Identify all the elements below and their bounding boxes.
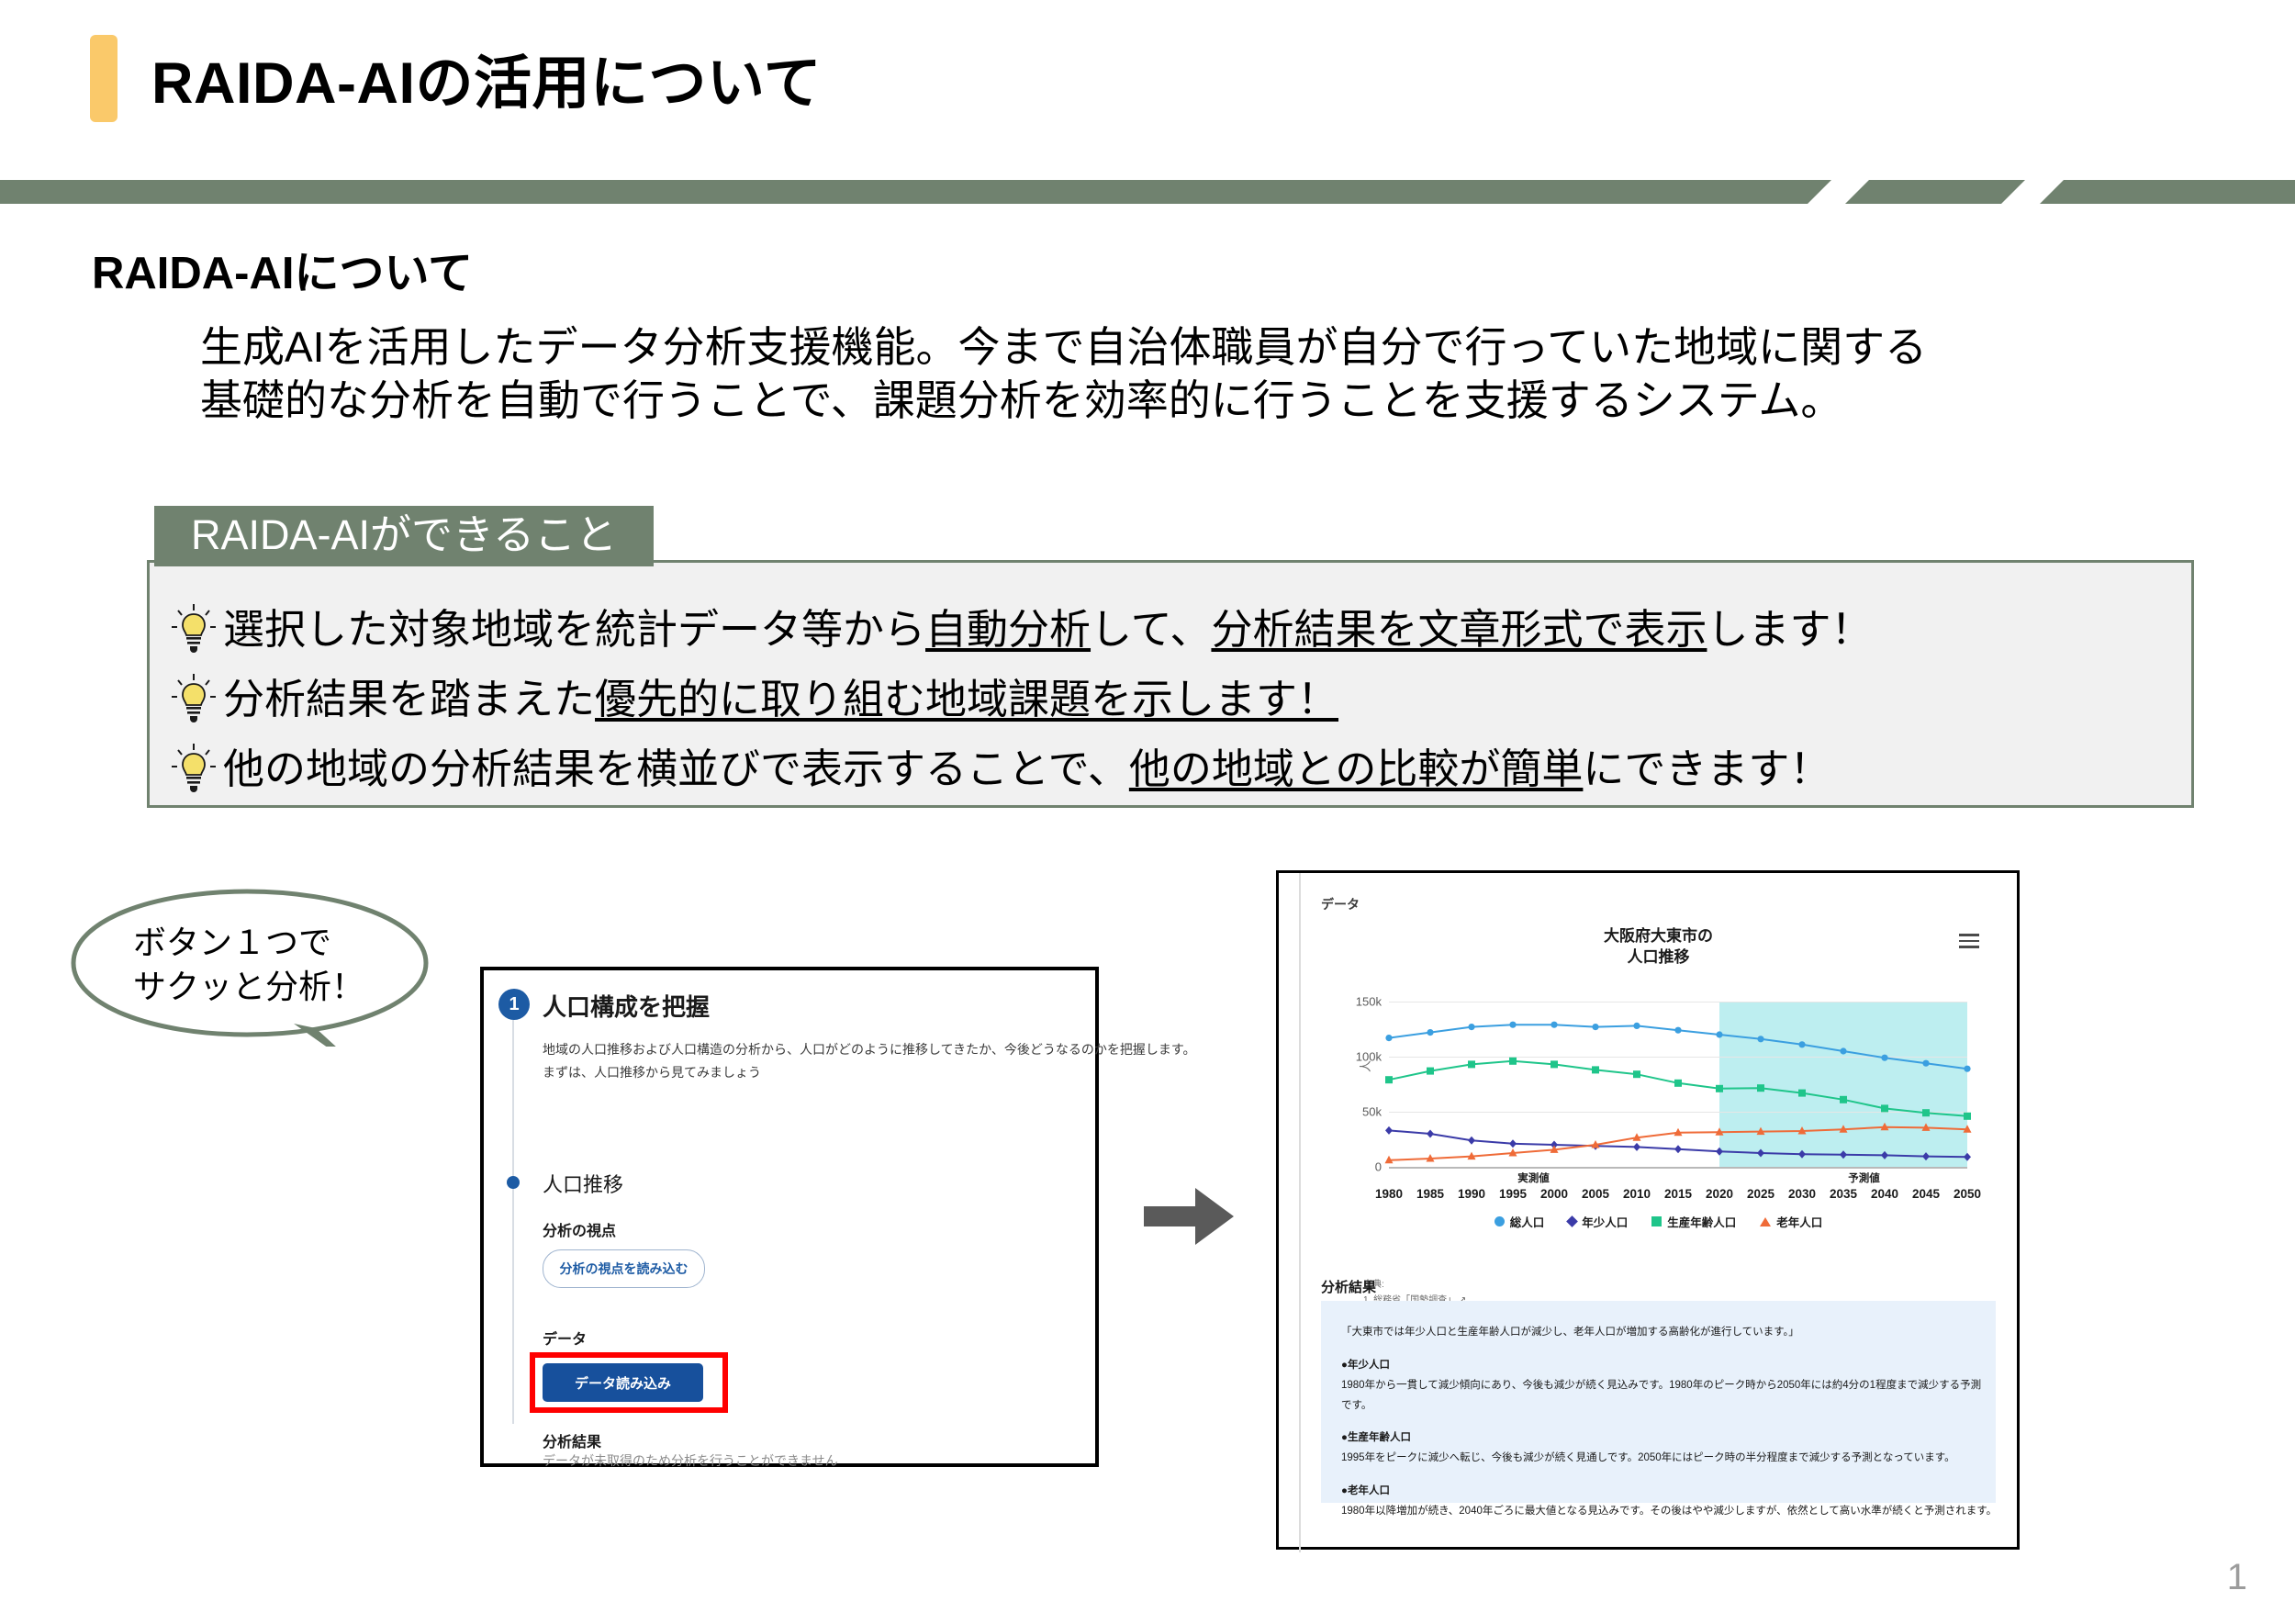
chart-title-line: 人口推移 — [1321, 947, 1996, 969]
hamburger-menu-icon[interactable] — [1959, 934, 1979, 948]
chart-marker — [1840, 1047, 1846, 1054]
report-data-label: データ — [1321, 895, 1360, 913]
chart-x-tick: 2015 — [1664, 1187, 1692, 1201]
chart-marker — [1674, 1145, 1682, 1153]
capability-item-label: 分析結果を踏まえた優先的に取り組む地域課題を示します！ — [223, 672, 1338, 727]
chart-marker — [1716, 1031, 1722, 1037]
chart-marker — [1592, 1066, 1599, 1073]
analysis-paragraph-heading: ●年少人口 — [1341, 1356, 1984, 1376]
step-description-line: まずは、人口推移から見てみましょう — [543, 1061, 1075, 1084]
chart-marker — [1509, 1022, 1516, 1028]
data-label: データ — [543, 1327, 587, 1349]
legend-label: 老年人口 — [1776, 1213, 1822, 1230]
chart-marker — [1922, 1060, 1929, 1067]
chart-marker — [1881, 1104, 1888, 1112]
chart-marker — [1881, 1151, 1888, 1159]
chart-title-line: 大阪府大東市の — [1321, 926, 1996, 947]
analysis-paragraph: 「大東市では年少人口と生産年齢人口が減少し、老年人口が増加する高齢化が進行してい… — [1341, 1323, 1984, 1343]
legend-label: 年少人口 — [1582, 1213, 1628, 1230]
chart-x-tick: 2050 — [1954, 1187, 1981, 1201]
chart-marker — [1385, 1035, 1392, 1041]
viewpoint-label: 分析の視点 — [543, 1218, 616, 1240]
step-description: 地域の人口推移および人口構造の分析から、人口がどのように推移してきたか、今後どう… — [543, 1038, 1075, 1083]
report-screenshot-panel: データ 大阪府大東市の人口推移 人 050k100k150k 総人口年少人口生産… — [1276, 870, 2020, 1550]
analysis-result-text: 「大東市では年少人口と生産年齢人口が減少し、老年人口が増加する高齢化が進行してい… — [1341, 1323, 1984, 1535]
chart-legend-entry: 総人口 — [1495, 1213, 1545, 1230]
chart-marker — [1757, 1036, 1763, 1042]
chart-x-tick: 2005 — [1582, 1187, 1609, 1201]
chart-marker — [1633, 1023, 1640, 1029]
slide-header: RAIDA-AIの活用について — [0, 0, 2295, 184]
capability-list: 選択した対象地域を統計データ等から自動分析して、分析結果を文章形式で表示します！… — [170, 595, 2180, 804]
capability-item-label: 選択した対象地域を統計データ等から自動分析して、分析結果を文章形式で表示します！ — [223, 602, 1872, 657]
divider-segment-2 — [1845, 180, 2025, 204]
analysis-paragraph-heading: ●老年人口 — [1341, 1482, 1984, 1502]
chart-marker — [1633, 1143, 1640, 1151]
chart-x-tick: 2045 — [1912, 1187, 1940, 1201]
step-rail — [512, 1020, 514, 1424]
chart-marker — [1798, 1090, 1806, 1097]
capability-item: 他の地域の分析結果を横並びで表示することで、他の地域との比較が簡単にできます！ — [170, 734, 2180, 804]
chart-marker — [1674, 1080, 1682, 1087]
population-chart: 大阪府大東市の人口推移 人 050k100k150k 総人口年少人口生産年齢人口… — [1321, 921, 1996, 1224]
capability-box-tab-label: RAIDA-AIができること — [154, 506, 654, 566]
analysis-paragraph-line: 1995年をピークに減少へ転じ、今後も減少が続く見通しです。2050年にはピーク… — [1341, 1449, 1984, 1469]
chart-marker — [1385, 1076, 1393, 1083]
chart-band-label: 予測値 — [1848, 1170, 1880, 1185]
chart-marker — [1633, 1070, 1640, 1078]
callout-line: ボタン１つで — [133, 921, 427, 965]
chart-marker — [1922, 1109, 1930, 1116]
lightbulb-icon — [170, 673, 218, 726]
capability-item: 分析結果を踏まえた優先的に取り組む地域課題を示します！ — [170, 665, 2180, 734]
chart-legend-entry: 年少人口 — [1568, 1213, 1628, 1230]
section-heading: RAIDA-AIについて — [92, 237, 473, 302]
report-rail — [1299, 873, 1301, 1552]
chart-marker — [1468, 1024, 1474, 1030]
analysis-paragraph: ●老年人口1980年以降増加が続き、2040年ごろに最大値となる見込みです。その… — [1341, 1482, 1984, 1522]
divider-segment-3 — [2040, 180, 2295, 204]
chart-x-tick: 2010 — [1623, 1187, 1651, 1201]
analysis-result-card: 「大東市では年少人口と生産年齢人口が減少し、老年人口が増加する高齢化が進行してい… — [1321, 1301, 1996, 1503]
chart-marker — [1551, 1060, 1558, 1068]
chart-y-tick: 50k — [1362, 1105, 1382, 1119]
chart-title: 大阪府大東市の人口推移 — [1321, 926, 1996, 969]
legend-swatch — [1495, 1216, 1505, 1226]
analysis-paragraph-heading: ●生産年齢人口 — [1341, 1428, 1984, 1449]
lead-line: 生成AIを活用したデータ分析支援機能。今まで自治体職員が自分で行っていた地域に関… — [200, 321, 2201, 375]
chart-x-tick: 2020 — [1706, 1187, 1733, 1201]
analysis-paragraph-line: 1980年から一貫して減少傾向にあり、今後も減少が続く見込みです。1980年のピ… — [1341, 1376, 1984, 1396]
analysis-paragraph-line: 1980年以降増加が続き、2040年ごろに最大値となる見込みです。その後はやや減… — [1341, 1502, 1984, 1522]
chart-x-axis-line — [1389, 1167, 1967, 1169]
load-data-button[interactable]: データ読み込み — [543, 1363, 703, 1402]
chart-marker — [1716, 1148, 1723, 1156]
chart-marker — [1385, 1126, 1393, 1135]
chart-x-tick: 1985 — [1416, 1187, 1444, 1201]
chart-marker — [1509, 1139, 1517, 1148]
lightbulb-icon — [170, 743, 218, 796]
chart-marker — [1468, 1137, 1475, 1145]
chart-x-tick: 2025 — [1747, 1187, 1774, 1201]
chart-marker — [1592, 1024, 1598, 1030]
chart-legend: 総人口年少人口生産年齢人口老年人口 — [1321, 1213, 1996, 1230]
chart-x-tick: 2035 — [1830, 1187, 1857, 1201]
chart-band-label: 実測値 — [1517, 1170, 1550, 1185]
chart-marker — [1757, 1084, 1764, 1092]
callout-line: サクッと分析！ — [133, 965, 427, 1009]
app-screenshot-panel: 1 人口構成を把握 地域の人口推移および人口構造の分析から、人口がどのように推移… — [480, 967, 1099, 1467]
page-title: RAIDA-AIの活用について — [151, 37, 822, 120]
chart-legend-entry: 生産年齢人口 — [1651, 1213, 1736, 1230]
legend-swatch — [1760, 1217, 1771, 1226]
capability-item-label: 他の地域の分析結果を横並びで表示することで、他の地域との比較が簡単にできます！ — [223, 742, 1830, 797]
title-accent-bar — [90, 35, 118, 122]
lightbulb-icon — [170, 603, 218, 656]
chart-marker — [1964, 1066, 1970, 1072]
analysis-result-empty-text: データが未取得のため分析を行うことができません — [543, 1451, 838, 1470]
chart-x-tick: 1990 — [1458, 1187, 1485, 1201]
chart-marker — [1551, 1022, 1557, 1028]
chart-x-tick: 2030 — [1788, 1187, 1816, 1201]
subsection-label: 人口推移 — [543, 1169, 623, 1198]
capability-item: 選択した対象地域を統計データ等から自動分析して、分析結果を文章形式で表示します！ — [170, 595, 2180, 665]
analysis-heading: 分析結果 — [1321, 1277, 1376, 1296]
step-title: 人口構成を把握 — [543, 989, 710, 1023]
chart-marker — [1716, 1085, 1723, 1092]
chart-x-tick: 1995 — [1499, 1187, 1527, 1201]
chart-y-tick: 100k — [1356, 1050, 1382, 1064]
lead-paragraph: 生成AIを活用したデータ分析支援機能。今まで自治体職員が自分で行っていた地域に関… — [200, 321, 2201, 428]
legend-label: 総人口 — [1510, 1213, 1545, 1230]
chart-legend-entry: 老年人口 — [1760, 1213, 1822, 1230]
chart-x-tick: 1980 — [1375, 1187, 1403, 1201]
divider-segment-1 — [0, 180, 1831, 204]
chart-marker — [1840, 1096, 1847, 1103]
chart-marker — [1840, 1150, 1847, 1159]
chart-marker — [1798, 1150, 1806, 1159]
chart-marker — [1427, 1029, 1433, 1036]
chart-marker — [1964, 1113, 1971, 1120]
page-number: 1 — [2227, 1557, 2247, 1598]
load-viewpoint-button[interactable]: 分析の視点を読み込む — [543, 1249, 705, 1288]
analysis-paragraph-line: です。 — [1341, 1396, 1984, 1417]
subsection-dot-marker — [507, 1176, 520, 1189]
legend-swatch — [1651, 1216, 1662, 1226]
chart-marker — [1509, 1058, 1517, 1065]
chart-x-tick: 2000 — [1540, 1187, 1568, 1201]
legend-label: 生産年齢人口 — [1667, 1213, 1736, 1230]
chart-plot-area: 050k100k150k — [1389, 1002, 1967, 1167]
step-description-line: 地域の人口推移および人口構造の分析から、人口がどのように推移してきたか、今後どう… — [543, 1038, 1075, 1061]
header-divider-rule — [0, 180, 2295, 204]
legend-swatch — [1566, 1215, 1578, 1227]
chart-x-tick: 2040 — [1871, 1187, 1898, 1201]
chart-marker — [1468, 1060, 1475, 1068]
chart-marker — [1881, 1055, 1887, 1061]
analysis-paragraph: ●生産年齢人口1995年をピークに減少へ転じ、今後も減少が続く見通しです。205… — [1341, 1428, 1984, 1469]
chart-marker — [1427, 1130, 1434, 1138]
lead-line: 基礎的な分析を自動で行うことで、課題分析を効率的に行うことを支援するシステム。 — [200, 375, 2201, 428]
chart-y-tick: 150k — [1356, 995, 1382, 1009]
chart-marker — [1798, 1041, 1805, 1047]
chart-y-tick: 0 — [1375, 1160, 1382, 1174]
chart-marker — [1427, 1068, 1434, 1075]
chart-marker — [1922, 1152, 1930, 1160]
chart-marker — [1964, 1153, 1971, 1161]
analysis-result-label: 分析結果 — [543, 1429, 601, 1451]
chart-line-生産年齢人口 — [1389, 1061, 1967, 1116]
chart-source-line: 出典: — [1363, 1277, 1640, 1293]
callout-text: ボタン１つでサクッと分析！ — [133, 921, 427, 1008]
analysis-paragraph: ●年少人口1980年から一貫して減少傾向にあり、今後も減少が続く見込みです。19… — [1341, 1356, 1984, 1417]
chart-marker — [1674, 1027, 1681, 1034]
chart-series-layer — [1389, 1002, 1967, 1167]
chart-marker — [1757, 1149, 1764, 1158]
step-number-badge: 1 — [498, 989, 530, 1020]
analysis-paragraph-line: 「大東市では年少人口と生産年齢人口が減少し、老年人口が増加する高齢化が進行してい… — [1341, 1323, 1984, 1343]
right-arrow-icon — [1138, 1175, 1239, 1258]
